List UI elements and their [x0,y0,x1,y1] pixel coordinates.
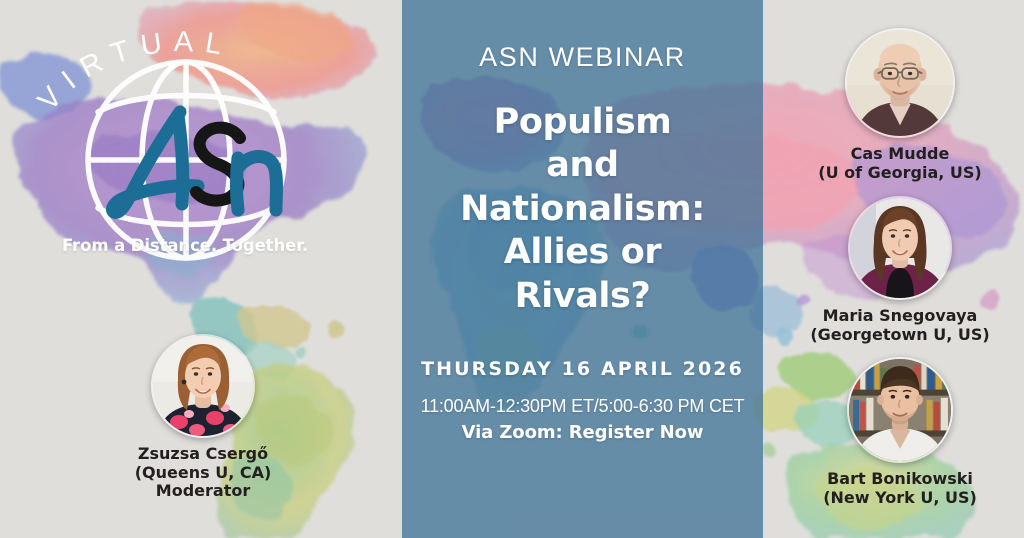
webinar-info: ASN WEBINAR Populism and Nationalism: Al… [402,0,763,538]
speaker-name: Cas Mudde (U of Georgia, US) [776,145,1024,182]
speaker-cas-mudde: Cas Mudde (U of Georgia, US) [776,28,1024,182]
title-line-2: and [460,144,705,187]
asn-monogram [106,104,288,224]
title-line-3: Nationalism: [460,188,705,231]
speaker-name: Bart Bonikowski (New York U, US) [776,470,1024,507]
webinar-date: THURSDAY 16 APRIL 2026 [421,358,744,380]
avatar [847,357,953,463]
speaker-name: Maria Snegovaya (Georgetown U, US) [776,307,1024,344]
speaker-maria-snegovaya: Maria Snegovaya (Georgetown U, US) [776,196,1024,344]
webinar-kicker: ASN WEBINAR [479,42,686,73]
avatar [151,334,255,438]
webinar-time: 11:00AM-12:30PM ET/5:00-6:30 PM CET [421,396,745,417]
logo-tagline: From a Distance. Together. [20,236,350,255]
speaker-fullname: Cas Mudde [776,145,1024,164]
avatar [848,196,952,300]
speaker-affiliation: (U of Georgia, US) [776,164,1024,183]
speaker-affiliation: (New York U, US) [776,489,1024,508]
speaker-fullname: Zsuzsa Csergő [78,445,328,464]
speaker-affiliation: (Queens U, CA) [78,464,328,483]
webinar-title: Populism and Nationalism: Allies or Riva… [460,101,705,318]
title-line-4: Allies or [460,231,705,274]
speaker-fullname: Maria Snegovaya [776,307,1024,326]
speaker-name: Zsuzsa Csergő (Queens U, CA) Moderator [78,445,328,501]
speaker-zsuzsa-csergo: Zsuzsa Csergő (Queens U, CA) Moderator [78,334,328,501]
speaker-affiliation: (Georgetown U, US) [776,326,1024,345]
speaker-role: Moderator [78,482,328,501]
speaker-bart-bonikowski: Bart Bonikowski (New York U, US) [776,357,1024,507]
title-line-1: Populism [460,101,705,144]
speaker-fullname: Bart Bonikowski [776,470,1024,489]
webinar-poster: ASN WEBINAR Populism and Nationalism: Al… [0,0,1024,538]
virtual-asn-logo: VIRTUAL [20,18,350,268]
avatar [845,28,955,138]
register-link[interactable]: Via Zoom: Register Now [462,422,704,443]
title-line-5: Rivals? [460,275,705,318]
